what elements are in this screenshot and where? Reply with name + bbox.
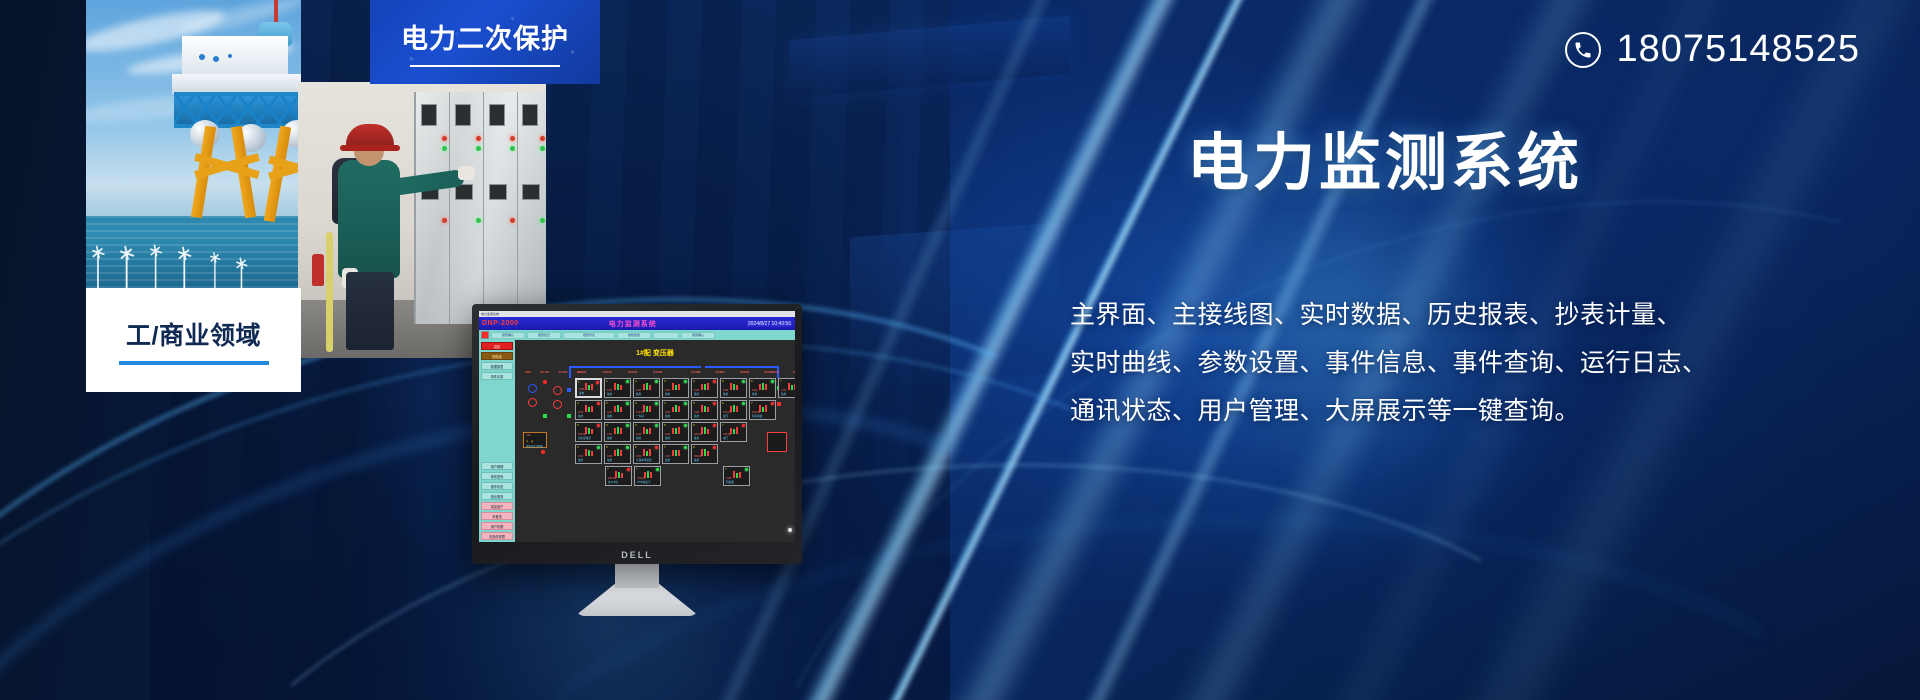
scada-header-title: 电力监测系统 [609,319,657,329]
cell-bars [614,448,622,456]
cell-number: 6 [693,423,695,427]
worker-legs [346,272,394,350]
feeder-cell-row: 7400.00办公中心 7374.00PT中央信号 70.00研发楼 [575,466,795,486]
cell-label: 备用 [694,392,699,396]
cell-number: 5 [693,401,695,405]
cell-label: 备用 [607,436,612,440]
feeder-cell-row: 10.00备用 10.00备用 20.00备用 30.00备用 40.00备用 … [575,378,795,398]
cell-number: 7 [725,467,727,471]
card-industrial-commercial[interactable]: 工/商业领域 [86,288,301,392]
bus-tag: AA102 [577,370,586,374]
cell-status-lamp [655,402,658,405]
description-line: 通讯状态、用户管理、大屏展示等一键查询。 [1070,387,1900,435]
sidebar-item-high-voltage[interactable]: 高压 [481,342,513,350]
platform-truss [174,92,301,128]
feeder-cell[interactable]: 7262.00制冷机组 [749,400,776,420]
cell-number: 5 [606,445,608,449]
cell-status-lamp [627,468,630,471]
cell-label: 办公中心 [608,480,618,484]
info-box-title: 千 压 [526,439,533,443]
cell-status-lamp [656,468,659,471]
cell-status-lamp [713,446,716,449]
background-cabinet-panel [850,223,1060,388]
cell-number: 3 [577,423,579,427]
bus-tag: AA104 [628,370,637,374]
sidebar-item-no-operation-rights[interactable]: 无操作权限 [481,532,513,540]
feeder-cell[interactable]: 50.00备用 [662,422,689,442]
alarm-indicator-button[interactable] [481,331,489,339]
toolbar-button[interactable]: 报警确认 [491,332,525,339]
bus-tag-group-far: AA2 AA [773,370,795,374]
switch-indicator [543,414,547,418]
scada-single-line-diagram[interactable]: 1#配 变压器 TM1 AA101 AC101 AA1 [515,340,795,542]
sidebar-item-logout[interactable]: 退出登录 [481,492,513,500]
cell-label: 空调补风机组 [636,458,652,462]
cell-label: 备用 [694,436,699,440]
sidebar-item-not-logged-in[interactable]: 未登录 [481,512,513,520]
feeder-cell[interactable]: 10.00备用 [575,378,602,398]
cell-status-lamp [597,402,600,405]
feeder-cell[interactable]: 20.00备用 [604,400,631,420]
cell-status-lamp [713,402,716,405]
photo-offshore-wind-platform [86,0,301,318]
cell-label: 制冷机组 [752,414,762,418]
feeder-cell[interactable]: 40.00备用 [691,378,718,398]
cell-bars [643,382,651,390]
cell-number: 4 [635,423,637,427]
switch-indicator [567,388,571,392]
scada-body: 高压 配电室 数据报表 事件记录 用户管理 修改密码 操作状态 退出登录 增加用… [479,340,795,542]
cell-label: 备用 [752,392,757,396]
bus-tag: AC101 [558,370,567,374]
bus-tag: AA [793,370,795,374]
cell-number: 2 [577,401,579,405]
bus-tag: AA2 [773,370,779,374]
bus-tag: AA204 [715,370,724,374]
cell-label: 研发楼 [726,480,734,484]
promo-banner: 电力二次保护 工/商业领域 电力监测系统 DNP-2000 电力监测系统 202… [0,0,1920,700]
bus-tag: AA103 [602,370,611,374]
cell-number: 3 [664,379,666,383]
feeder-cell[interactable]: 10.00备用 [604,378,631,398]
cell-status-lamp [742,380,745,383]
cell-bars [733,470,741,478]
cell-bars [672,404,680,412]
cell-status-lamp [626,380,629,383]
feeder-cell[interactable]: 70.00备用 [778,378,795,398]
scada-screen[interactable]: 电力监测系统 DNP-2000 电力监测系统 2024/8/27 10:43:5… [479,311,795,542]
feeder-cell[interactable]: 6370.00变压 [720,400,747,420]
cell-bars [759,382,767,390]
cell-number: 2 [606,401,608,405]
feeder-cell[interactable]: 20.00备用 [633,378,660,398]
phone-icon [1565,32,1601,68]
cell-label: 备用 [607,458,612,462]
transformer-info-box[interactable]: 0.00 千 压 本体温度控制器 [523,432,547,448]
sidebar-item-operation-status[interactable]: 操作状态 [481,482,513,490]
cell-label: 备用 [607,414,612,418]
cell-bars [643,426,651,434]
cell-status-lamp [655,380,658,383]
toolbar-button[interactable]: 报警列表 [563,332,615,339]
cell-status-lamp [596,381,599,384]
cell-status-lamp [597,424,600,427]
fire-extinguisher [312,254,324,286]
bus-tag-group-right: AA206 AA204 AA203 AA202 [691,370,773,374]
bus-bar [569,366,701,368]
bus-tag: AA202 [764,370,773,374]
bus-tag-group-left: TM1 AA101 AC101 AA1 [525,370,583,374]
sidebar-item-distribution-room[interactable]: 配电室 [481,352,513,360]
cell-label: 备用 [578,414,583,418]
monitor-bezel: 电力监测系统 DNP-2000 电力监测系统 2024/8/27 10:43:5… [472,304,802,564]
cell-number: 4 [664,401,666,405]
feeder-cell[interactable]: 6400.00备用 [691,422,718,442]
cell-label: 备用 [636,436,641,440]
cell-number: 6 [635,445,637,449]
cell-status-lamp [771,402,774,405]
cell-status-lamp [655,446,658,449]
cell-label: 备用 [694,414,699,418]
monitor-stand-neck [615,562,659,588]
switchgear-panel-bank [414,92,546,324]
bus-tag: AA101 [540,370,549,374]
cell-label: 备用 [607,392,612,396]
sidebar-item-add-user[interactable]: 增加用户 [481,502,513,510]
feeder-cell-row: 20.00备用 20.00备用 3172.00一车间 40.00备用 50.00… [575,400,795,420]
description-line: 实时曲线、参数设置、事件信息、事件查询、运行日志、 [1070,339,1900,387]
monitor-brand-logo: DELL [472,550,802,560]
info-box-note: 本体温度控制器 [526,444,543,448]
info-box-value: 0.00 [526,434,531,437]
switch-indicator [567,414,571,418]
scada-sidebar: 高压 配电室 数据报表 事件记录 用户管理 修改密码 操作状态 退出登录 增加用… [479,340,515,542]
cell-status-lamp [655,424,658,427]
cell-label: 备用 [579,391,584,395]
cell-number: 3 [635,401,637,405]
cell-number: 7 [664,445,666,449]
cell-bars [614,404,622,412]
feeder-cell-row: 3360.00动力配电室 30.00备用 40.00备用 50.00备用 640… [575,422,795,442]
sidebar-item-data-report[interactable]: 数据报表 [481,362,513,370]
cell-number: 6 [751,379,753,383]
cell-label: 备用 [694,458,699,462]
cell-status-lamp [771,380,774,383]
cell-bars [585,382,593,390]
cell-bars [672,448,680,456]
bus-tag: TM1 [525,370,531,374]
cell-label: 一车间 [636,414,644,418]
cell-label: PT中央信号 [637,480,651,484]
cell-bars [672,426,680,434]
cell-status-lamp [684,446,687,449]
toolbar-button[interactable]: 故障类型 [617,332,651,339]
sidebar-item-user-rights[interactable]: 用户权限 [481,522,513,530]
bus-bar [705,366,777,368]
phone-number: 18075148525 [1617,28,1860,71]
card-label: 电力二次保护 [401,17,569,56]
contact-phone[interactable]: 18075148525 [1565,28,1860,71]
transformer-winding-symbol [528,384,537,393]
bus-tag-group-mid: AA102 AA103 AA104 AA105 [577,370,662,374]
sidebar-item-change-password[interactable]: 修改密码 [481,472,513,480]
transformer-winding-symbol [553,400,562,409]
cell-bars [672,382,680,390]
cell-status-lamp [713,424,716,427]
worker-torso [338,160,400,278]
breaker-indicator [543,380,547,384]
feeder-cell[interactable]: 60.00空调补风机组 [633,444,660,464]
description-line: 主界面、主接线图、实时数据、历史报表、抄表计量、 [1070,291,1900,339]
feeder-cell[interactable]: 70.00备用 [662,444,689,464]
floor-cable [326,232,333,352]
feeder-cell[interactable]: 20.00备用 [575,400,602,420]
cell-status-lamp [742,402,745,405]
feeder-cell[interactable]: 3172.00一车间 [633,400,660,420]
card-underline [119,361,269,365]
toolbar-button-blank[interactable] [653,332,679,339]
card-underline [410,65,560,67]
cell-status-lamp [713,380,716,383]
dell-monitor: 电力监测系统 DNP-2000 电力监测系统 2024/8/27 10:43:5… [472,304,802,564]
scada-logo: DNP-2000 [482,320,519,327]
cell-bars [614,426,622,434]
cell-number: 7 [751,401,753,405]
feeder-cell[interactable]: 70.00研发楼 [723,466,750,486]
cell-bars [643,448,651,456]
feeder-cell[interactable]: 60.00备用 [749,378,776,398]
platform-deck [172,74,301,94]
cell-label: 备用 [665,436,670,440]
cell-number: 1 [578,380,580,384]
bus-tag: AA203 [740,370,749,374]
worker-glove [458,166,475,180]
feeder-cell[interactable]: 3360.00动力配电室 [575,422,602,442]
card-power-secondary-protection[interactable]: 电力二次保护 [370,0,600,84]
page-title: 电力监测系统 [1187,112,1583,202]
feeder-cell[interactable]: 30.00备用 [662,378,689,398]
feeder-cell[interactable]: 7443.00电门 [720,422,747,442]
feeder-cell[interactable]: 50.00备用 [691,400,718,420]
feeder-cell-grid: 10.00备用 10.00备用 20.00备用 30.00备用 40.00备用 … [575,378,795,486]
cell-label: 电门 [723,436,728,440]
cell-status-lamp [626,402,629,405]
cell-number: 4 [693,379,695,383]
cell-number: 3 [606,423,608,427]
feeder-cell[interactable]: 40.00备用 [662,400,689,420]
cell-label: 备用 [578,458,583,462]
cell-status-lamp [742,424,745,427]
toolbar-button[interactable]: 报警复归 [527,332,561,339]
toolbar-button[interactable]: 报警确认 [681,332,715,339]
cell-status-lamp [626,424,629,427]
feeder-cell-row: 40.00备用 50.00备用 60.00空调补风机组 70.00备用 8350… [575,444,795,464]
cell-label: 动力配电室 [578,436,591,440]
cell-status-lamp [626,446,629,449]
info-box-alarm-dot [541,450,545,454]
cell-number: 6 [722,401,724,405]
diagram-title: 1#配 变压器 [515,348,795,358]
feeder-cell[interactable]: 50.00备用 [720,378,747,398]
scada-clock: 2024/8/27 10:43:56 [747,321,792,327]
sidebar-spacer [481,382,513,460]
cell-number: 2 [635,379,637,383]
cell-status-lamp [684,402,687,405]
scada-header: DNP-2000 电力监测系统 2024/8/27 10:43:56 [479,317,795,330]
cell-label: 备用 [781,392,786,396]
cell-number: 5 [664,423,666,427]
sidebar-item-user-management[interactable]: 用户管理 [481,462,513,470]
cell-number: 4 [577,445,579,449]
cell-bars [730,382,738,390]
transformer-winding-symbol [553,386,562,395]
feeder-cell[interactable]: 40.00备用 [633,422,660,442]
cell-number: 7 [780,379,782,383]
cell-bars [701,382,709,390]
sidebar-item-event-log[interactable]: 事件记录 [481,372,513,380]
cell-bars [585,448,593,456]
cell-status-lamp [745,468,748,471]
scada-toolbar: 报警确认 报警复归 报警列表 故障类型 报警确认 [479,330,795,340]
transformer-winding-symbol [528,398,537,407]
cell-label: 变压 [723,414,728,418]
cell-number: 7 [607,467,609,471]
cell-number: 7 [722,423,724,427]
cell-number: 5 [722,379,724,383]
bus-tag: AA206 [691,370,700,374]
cell-bars [788,382,796,390]
cell-bars [585,404,593,412]
feeder-cell[interactable]: 7400.00办公中心 [605,466,632,486]
feeder-cell[interactable]: 7374.00PT中央信号 [634,466,661,486]
feeder-cell[interactable]: 50.00备用 [604,444,631,464]
cell-status-lamp [684,424,687,427]
cell-number: 8 [693,445,695,449]
cell-status-lamp [684,380,687,383]
platform-building [182,36,288,78]
monitor-power-led [788,528,792,532]
cell-label: 备用 [665,392,670,396]
feature-description: 主界面、主接线图、实时数据、历史报表、抄表计量、 实时曲线、参数设置、事件信息、… [1070,291,1900,435]
cell-number: 7 [636,467,638,471]
cell-label: 备用 [665,458,670,462]
bus-tag: AA105 [653,370,662,374]
scada-window-title: 电力监测系统 [481,312,499,316]
cell-label: 备用 [665,414,670,418]
cell-status-lamp [597,446,600,449]
feeder-cell[interactable]: 30.00备用 [604,422,631,442]
cell-number: 1 [606,379,608,383]
cell-label: 备用 [723,392,728,396]
feeder-cell[interactable]: 8350.00备用 [691,444,718,464]
feeder-cell[interactable]: 40.00备用 [575,444,602,464]
cell-bars [701,404,709,412]
cell-bars [614,382,622,390]
card-label: 工/商业领域 [126,316,261,352]
cell-label: 备用 [636,392,641,396]
